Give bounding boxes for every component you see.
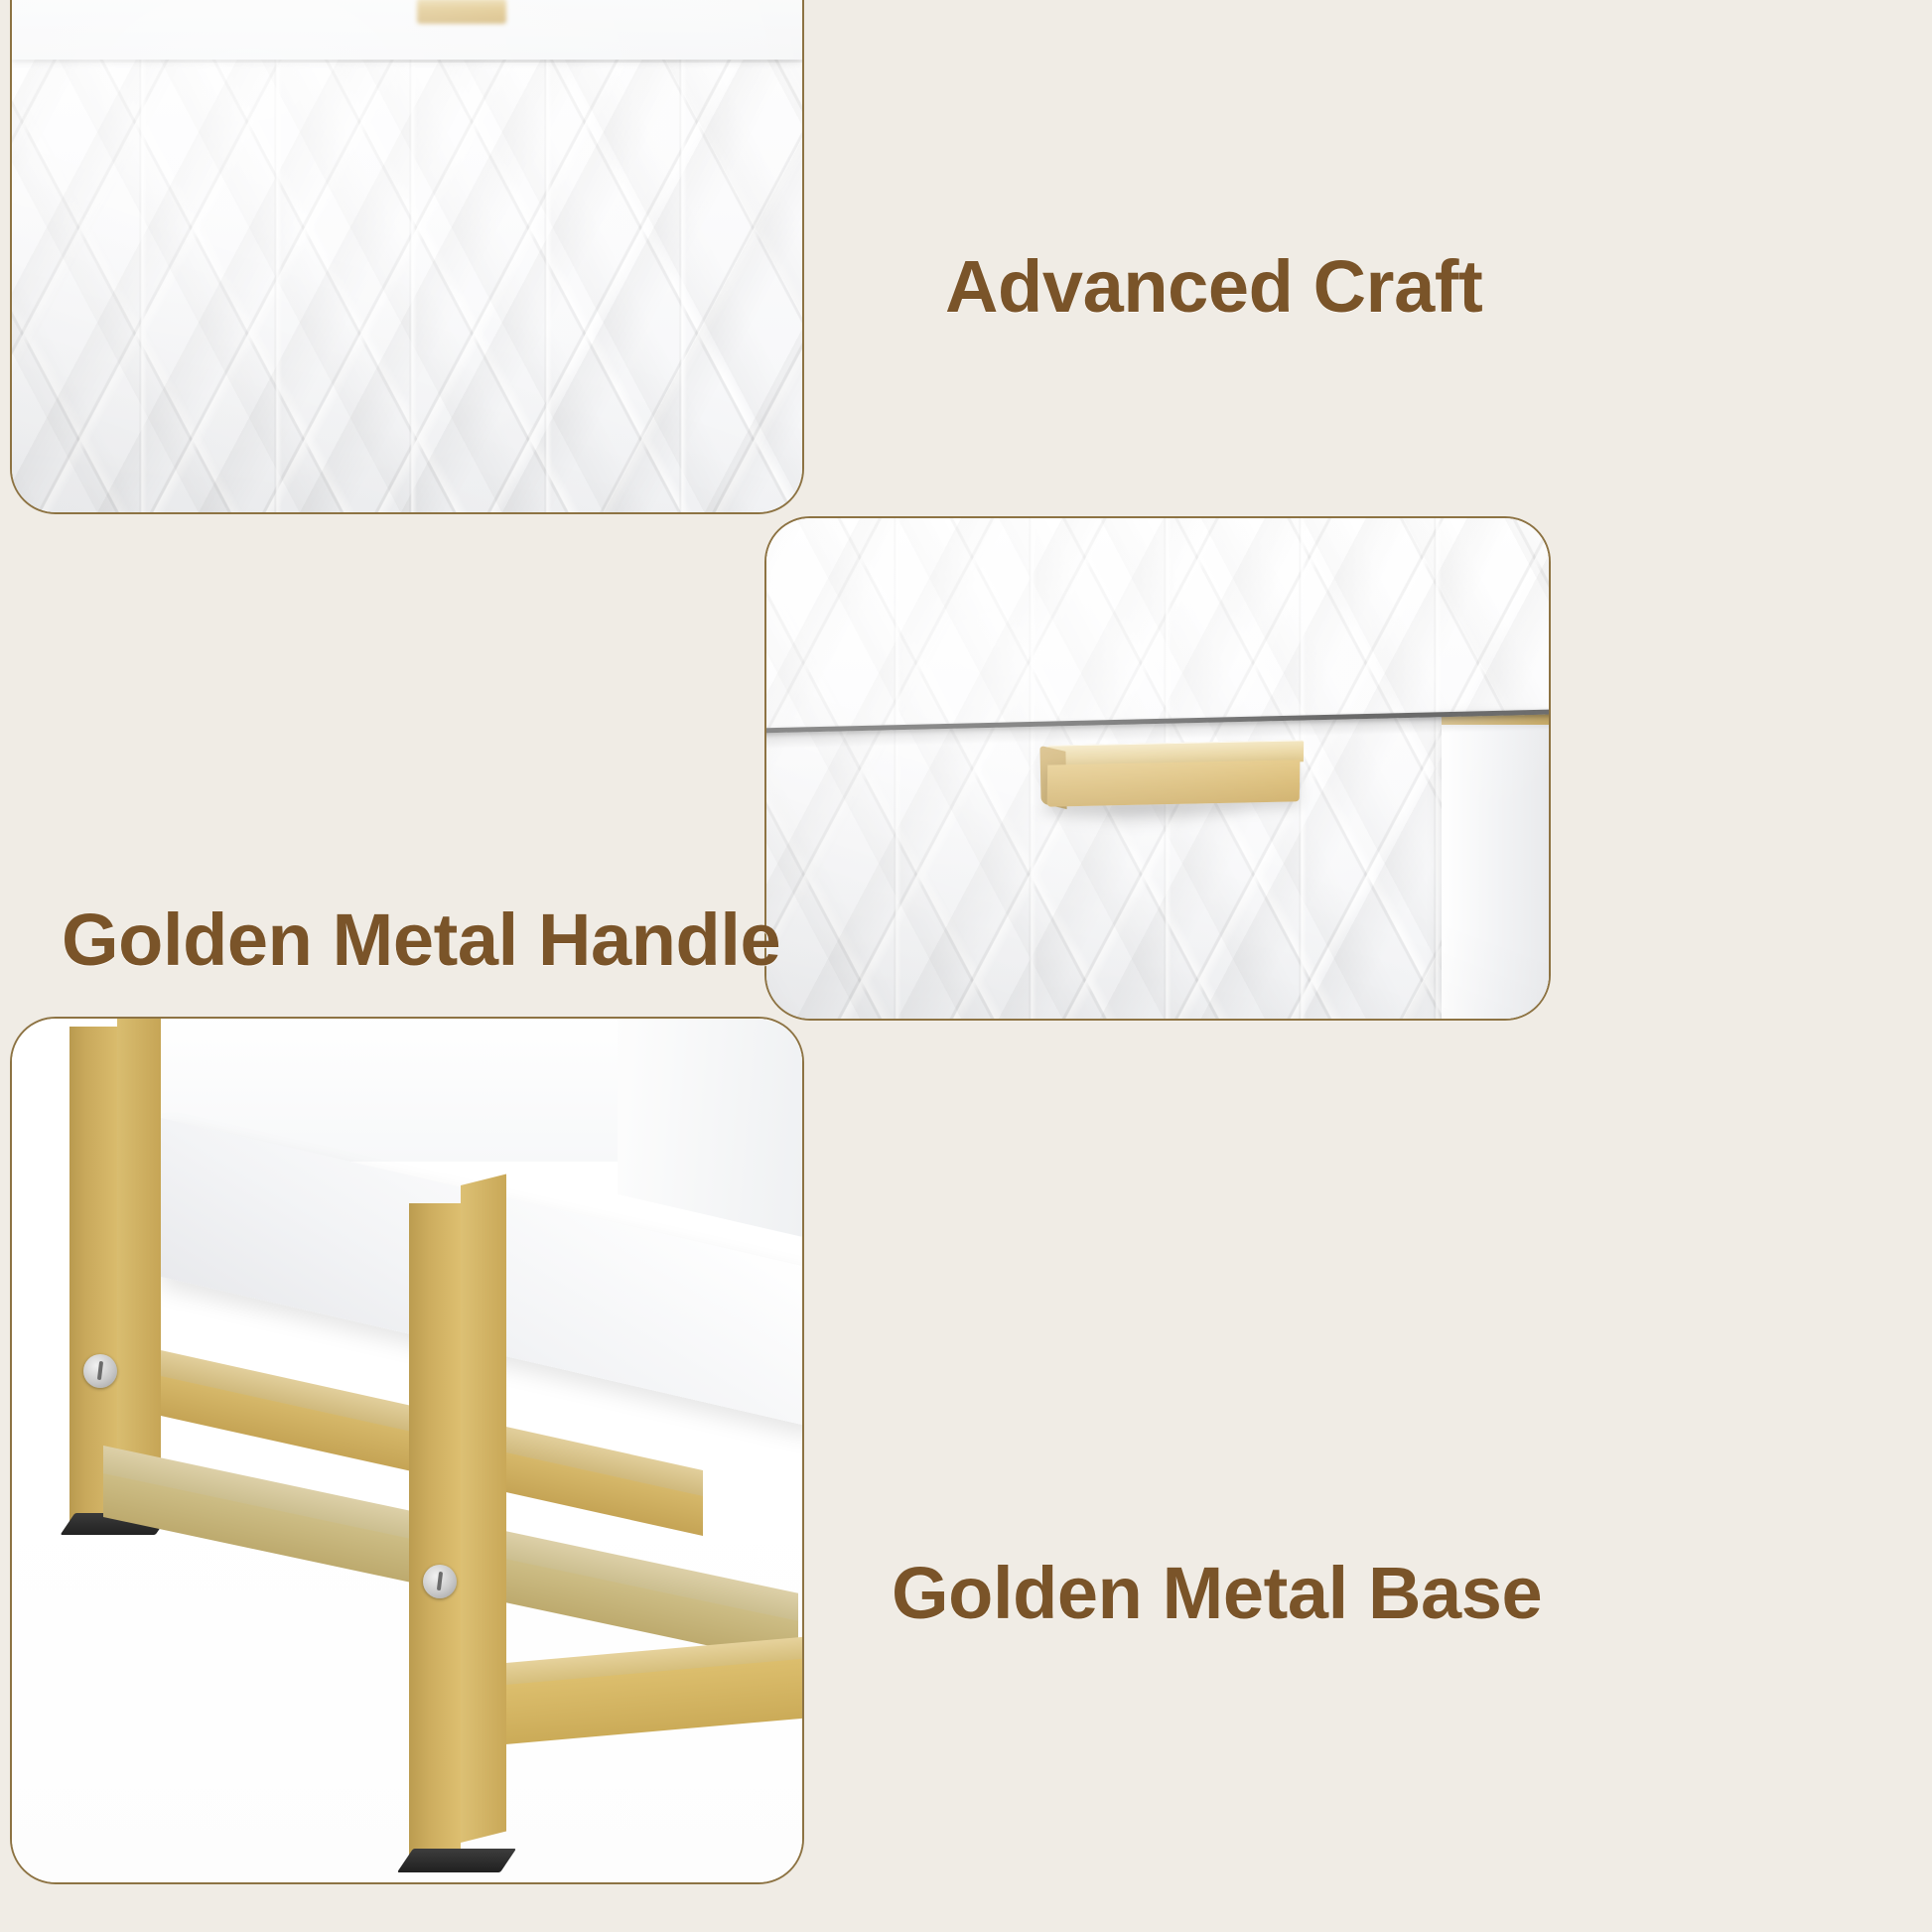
feature-collage-stage: Advanced Craft Golden Metal Handle Golde… (0, 0, 1932, 1932)
photo-vignette (766, 518, 1549, 1019)
assembly-screw-icon (423, 1565, 457, 1598)
caption-golden-metal-handle: Golden Metal Handle (62, 897, 780, 982)
right-leg-foot-cap (397, 1849, 516, 1872)
caption-advanced-craft: Advanced Craft (945, 244, 1482, 329)
right-leg-side-face (461, 1174, 506, 1843)
golden-metal-handle-photo (764, 516, 1551, 1021)
caption-golden-metal-base: Golden Metal Base (892, 1551, 1542, 1635)
advanced-craft-photo (10, 0, 804, 514)
golden-metal-base-photo (10, 1017, 804, 1884)
right-leg-front-face (409, 1203, 461, 1859)
assembly-screw-icon (83, 1354, 117, 1388)
left-leg-side-face (117, 1017, 161, 1509)
photo-vignette (12, 0, 802, 512)
